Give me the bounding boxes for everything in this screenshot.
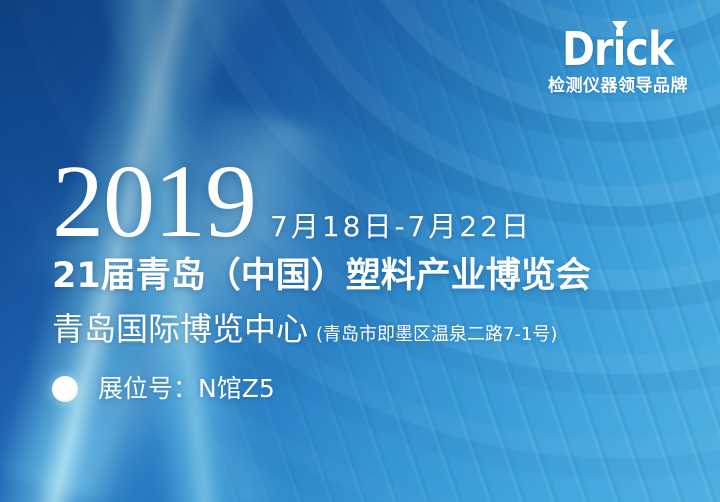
diamond-icon [612, 21, 627, 32]
event-dates: 7月18日-7月22日 [270, 212, 532, 242]
headline-year-row: 2019 7月18日-7月22日 [52, 156, 700, 248]
banner-copy: 2019 7月18日-7月22日 21届青岛（中国）塑料产业博览会 青岛国际博览… [52, 156, 700, 404]
booth-row: 展位号：N馆Z5 [52, 374, 700, 404]
venue-row: 青岛国际博览中心 (青岛市即墨区温泉二路7-1号) [52, 310, 700, 348]
booth-number: 展位号：N馆Z5 [98, 374, 275, 404]
brand-logo: Drick 检测仪器领导品牌 [538, 24, 698, 96]
brand-tagline: 检测仪器领导品牌 [538, 76, 698, 96]
event-year: 2019 [52, 156, 256, 248]
brand-wordmark: Drick [562, 24, 673, 74]
circle-bullet-icon [52, 376, 78, 402]
event-title: 21届青岛（中国）塑料产业博览会 [52, 254, 700, 298]
expo-banner: Drick 检测仪器领导品牌 2019 7月18日-7月22日 21届青岛（中国… [0, 0, 720, 502]
venue-name: 青岛国际博览中心 [52, 310, 308, 348]
venue-address: (青岛市即墨区温泉二路7-1号) [316, 323, 557, 347]
